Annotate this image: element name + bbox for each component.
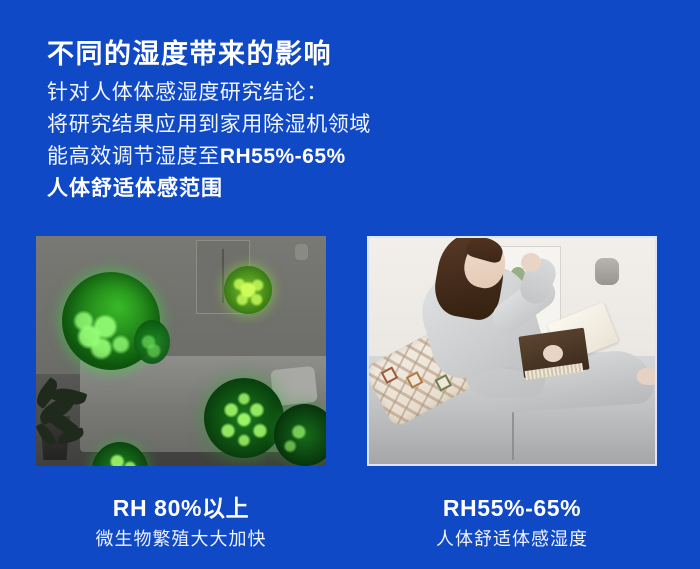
bright-living-room-scene xyxy=(369,238,655,464)
humidity-infographic-poster: 不同的湿度带来的影响 针对人体体感湿度研究结论： 将研究结果应用到家用除湿机领域… xyxy=(0,0,700,569)
pillow-motif xyxy=(381,366,399,384)
panel-comfort-humidity-image xyxy=(367,236,657,466)
microbe-cluster-lower xyxy=(204,378,284,458)
caption-high-humidity: RH 80%以上 微生物繁殖大大加快 xyxy=(36,492,326,554)
foot xyxy=(636,366,655,386)
body-copy-humidity-range: RH55%-65% xyxy=(220,145,346,168)
caption-title: RH55%-65% xyxy=(367,492,657,524)
body-copy-line-3: 能高效调节湿度至RH55%-65% xyxy=(47,141,371,173)
hand-holding-book xyxy=(543,345,563,362)
page-title: 不同的湿度带来的影响 xyxy=(47,36,332,72)
microbe-cluster-large xyxy=(62,272,160,370)
woman-reading xyxy=(403,240,653,412)
caption-subtitle: 微生物繁殖大大加快 xyxy=(36,524,326,554)
body-copy-line-1: 针对人体体感湿度研究结论： xyxy=(47,77,371,109)
caption-title: RH 80%以上 xyxy=(36,492,326,524)
body-copy-block: 针对人体体感湿度研究结论： 将研究结果应用到家用除湿机领域 能高效调节湿度至RH… xyxy=(47,77,371,205)
caption-subtitle: 人体舒适体感湿度 xyxy=(367,524,657,554)
dim-living-room-scene xyxy=(36,236,326,466)
body-copy-line-4: 人体舒适体感范围 xyxy=(47,173,371,205)
hand-at-forehead xyxy=(521,253,541,272)
comparison-panels xyxy=(0,236,700,468)
body-copy-line-2: 将研究结果应用到家用除湿机领域 xyxy=(47,109,371,141)
body-copy-line-3-prefix: 能高效调节湿度至 xyxy=(47,145,220,168)
microbe-cluster-small-top xyxy=(224,266,272,314)
panel-high-humidity-image xyxy=(36,236,326,466)
panel-captions: RH 80%以上 微生物繁殖大大加快 RH55%-65% 人体舒适体感湿度 xyxy=(0,492,700,569)
wall-speaker xyxy=(295,244,308,260)
caption-comfort-humidity: RH55%-65% 人体舒适体感湿度 xyxy=(367,492,657,554)
